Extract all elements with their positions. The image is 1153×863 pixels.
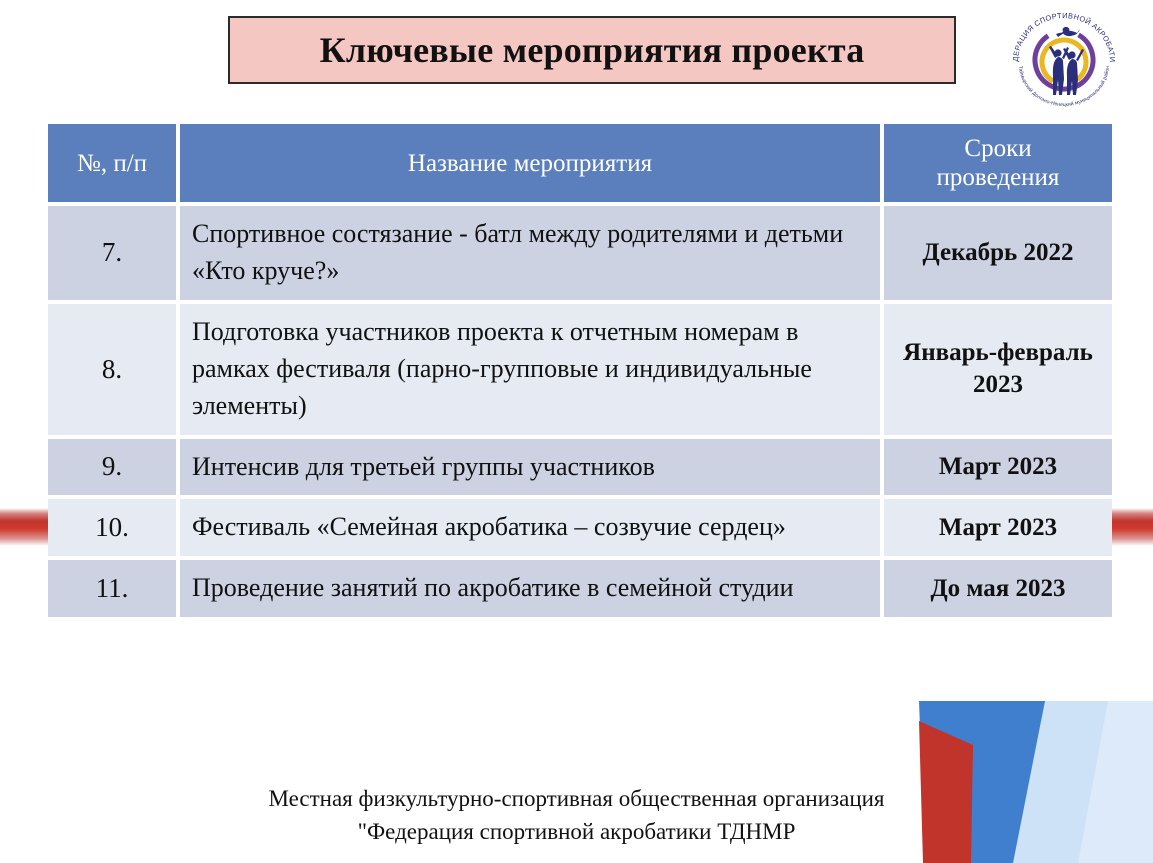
row-event-name: Проведение занятий по акробатике в семей… (180, 560, 880, 617)
events-table: №, п/п Название мероприятия Сроки провед… (44, 120, 1116, 621)
table-header-row: №, п/п Название мероприятия Сроки провед… (48, 124, 1112, 202)
footer-line-1: Местная физкультурно-спортивная обществе… (0, 782, 1153, 815)
row-number: 9. (48, 439, 176, 496)
table-row: 11. Проведение занятий по акробатике в с… (48, 560, 1112, 617)
table-row: 10. Фестиваль «Семейная акробатика – соз… (48, 499, 1112, 556)
row-dates: Декабрь 2022 (884, 206, 1112, 300)
table-body: 7. Спортивное состязание - батл между ро… (48, 206, 1112, 617)
row-number: 11. (48, 560, 176, 617)
slide-title-box: Ключевые мероприятия проекта (228, 16, 956, 84)
row-event-name: Спортивное состязание - батл между родит… (180, 206, 880, 300)
table-row: 7. Спортивное состязание - батл между ро… (48, 206, 1112, 300)
row-number: 7. (48, 206, 176, 300)
column-header-name: Название мероприятия (180, 124, 880, 202)
row-dates: До мая 2023 (884, 560, 1112, 617)
decorative-ribbons (893, 693, 1153, 863)
column-header-dates-line1: Сроки (964, 135, 1031, 162)
row-dates: Март 2023 (884, 439, 1112, 496)
page-title: Ключевые мероприятия проекта (320, 29, 865, 71)
row-event-name: Подготовка участников проекта к отчетным… (180, 304, 880, 435)
row-dates: Март 2023 (884, 499, 1112, 556)
row-event-name: Фестиваль «Семейная акробатика – созвучи… (180, 499, 880, 556)
row-event-name: Интенсив для третьей группы участников (180, 439, 880, 496)
footer-organization: Местная физкультурно-спортивная обществе… (0, 782, 1153, 849)
row-number: 10. (48, 499, 176, 556)
table-row: 8. Подготовка участников проекта к отчет… (48, 304, 1112, 435)
footer-line-2: "Федерация спортивной акробатики ТДНМР (0, 815, 1153, 848)
column-header-dates-line2: проведения (937, 164, 1060, 191)
table-header: №, п/п Название мероприятия Сроки провед… (48, 124, 1112, 202)
events-table-container: №, п/п Название мероприятия Сроки провед… (44, 120, 1108, 621)
row-number: 8. (48, 304, 176, 435)
federation-logo: ФЕДЕРАЦИЯ СПОРТИВНОЙ АКРОБАТИКИ Таймырск… (1004, 4, 1124, 108)
column-header-dates: Сроки проведения (884, 124, 1112, 202)
column-header-number: №, п/п (48, 124, 176, 202)
table-row: 9. Интенсив для третьей группы участнико… (48, 439, 1112, 496)
slide: ФЕДЕРАЦИЯ СПОРТИВНОЙ АКРОБАТИКИ Таймырск… (0, 0, 1153, 863)
row-dates: Январь-февраль 2023 (884, 304, 1112, 435)
